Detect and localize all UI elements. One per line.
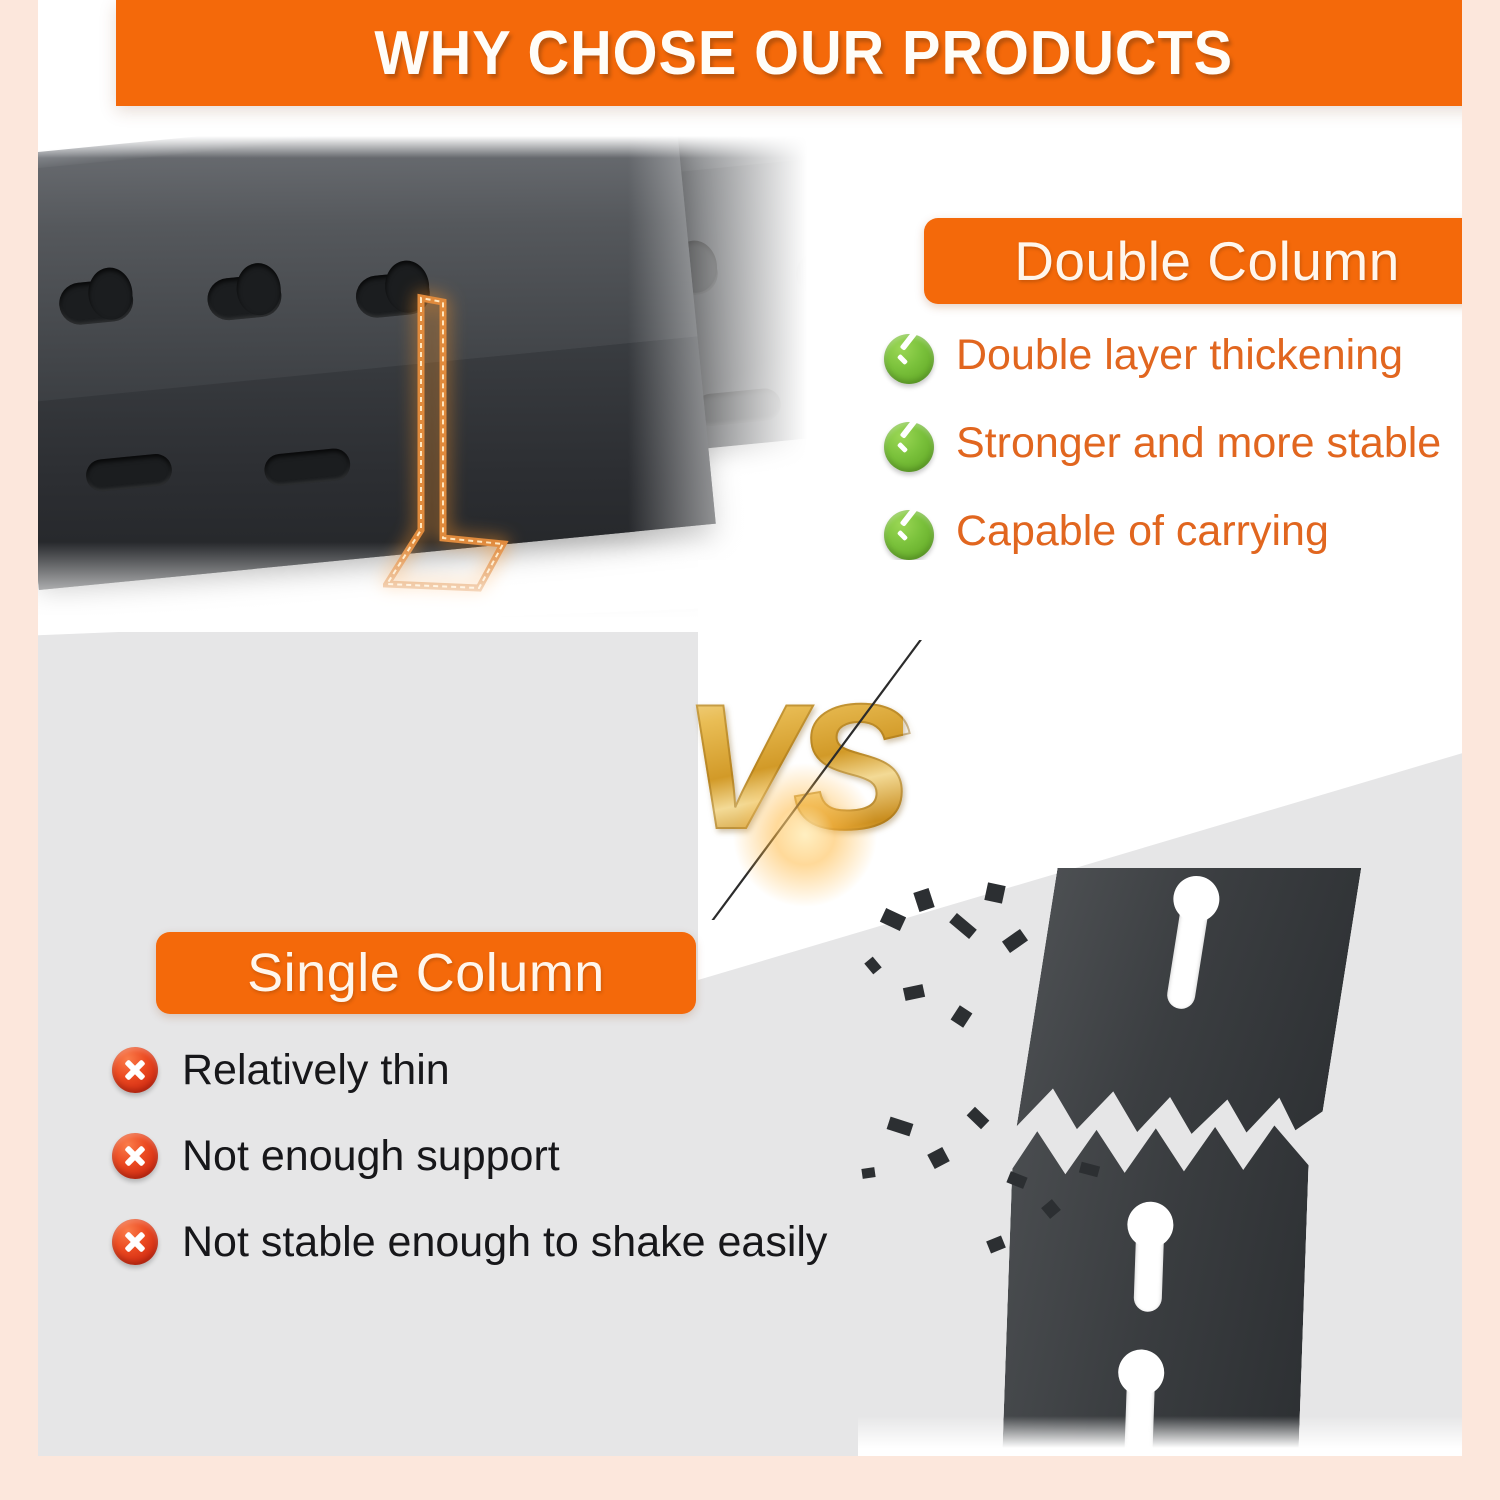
list-item: Relatively thin bbox=[112, 1046, 932, 1094]
list-item: Not stable enough to shake easily bbox=[112, 1218, 932, 1266]
single-column-badge-label: Single Column bbox=[247, 942, 605, 1004]
debris-fragment bbox=[864, 957, 881, 975]
x-circle-icon bbox=[112, 1219, 158, 1265]
single-column-badge: Single Column bbox=[156, 932, 696, 1014]
x-circle-icon bbox=[112, 1133, 158, 1179]
debris-fragment bbox=[986, 1235, 1006, 1253]
list-item: Not enough support bbox=[112, 1132, 932, 1180]
header-banner: WHY CHOSE OUR PRODUCTS bbox=[116, 0, 1462, 106]
x-circle-icon bbox=[112, 1047, 158, 1093]
debris-fragment bbox=[949, 913, 977, 939]
keyhole-slot bbox=[1133, 1225, 1164, 1312]
debris-fragment bbox=[913, 888, 934, 912]
steel-post-front bbox=[38, 132, 716, 590]
debris-fragment bbox=[951, 1005, 973, 1027]
infographic-page: WHY CHOSE OUR PRODUCTS Double Column Dou… bbox=[0, 0, 1500, 1500]
list-item: Stronger and more stable bbox=[884, 418, 1462, 472]
con-label: Not stable enough to shake easily bbox=[182, 1218, 827, 1266]
debris-fragment bbox=[984, 882, 1005, 903]
double-column-badge-label: Double Column bbox=[1014, 229, 1400, 293]
debris-fragment bbox=[1002, 929, 1028, 953]
keyhole-slot bbox=[1165, 898, 1210, 1011]
con-label: Relatively thin bbox=[182, 1046, 450, 1094]
check-circle-icon bbox=[884, 422, 934, 472]
broken-post-photo bbox=[858, 868, 1462, 1456]
check-circle-icon bbox=[884, 510, 934, 560]
pro-label: Double layer thickening bbox=[956, 330, 1403, 380]
photo-bottom-fade bbox=[38, 542, 858, 632]
double-column-badge: Double Column bbox=[924, 218, 1462, 304]
list-item: Double layer thickening bbox=[884, 330, 1462, 384]
page-title: WHY CHOSE OUR PRODUCTS bbox=[375, 18, 1234, 89]
content-canvas: WHY CHOSE OUR PRODUCTS Double Column Dou… bbox=[38, 0, 1462, 1456]
single-column-cons-list: Relatively thin Not enough support Not s… bbox=[112, 1046, 932, 1304]
pro-label: Stronger and more stable bbox=[956, 418, 1441, 468]
con-label: Not enough support bbox=[182, 1132, 560, 1180]
double-column-product-photo bbox=[38, 132, 858, 632]
check-circle-icon bbox=[884, 334, 934, 384]
photo-bottom-fade bbox=[858, 1416, 1462, 1456]
debris-fragment bbox=[967, 1107, 990, 1130]
debris-fragment bbox=[903, 984, 925, 1001]
post-upper-fragment bbox=[1014, 868, 1362, 1189]
debris-fragment bbox=[880, 908, 906, 931]
versus-label: VS bbox=[682, 678, 903, 856]
post-lower-fragment bbox=[1002, 1113, 1310, 1456]
